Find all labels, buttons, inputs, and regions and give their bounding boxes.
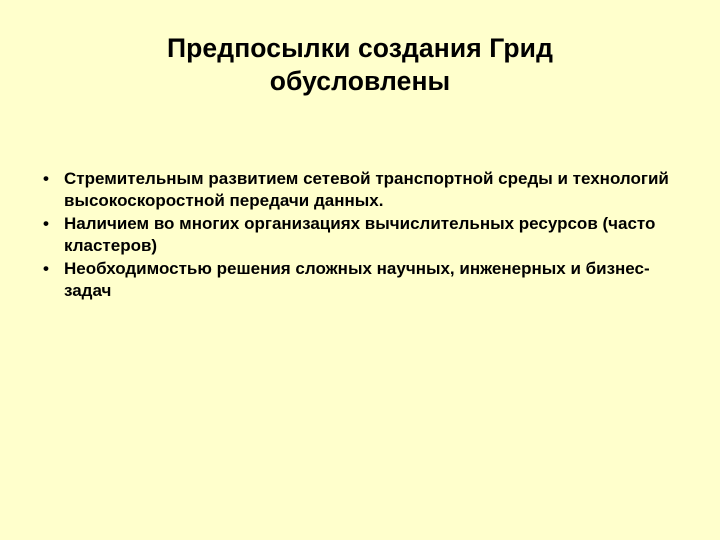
list-item-text: Стремительным развитием сетевой транспор… (64, 168, 688, 213)
bullet-point-icon: • (43, 213, 57, 235)
list-item: • Наличием во многих организациях вычисл… (40, 213, 688, 258)
presentation-slide: Предпосылки создания Грид обусловлены • … (0, 0, 720, 540)
slide-bullet-list: • Стремительным развитием сетевой трансп… (40, 168, 688, 302)
bullet-point-icon: • (43, 168, 57, 190)
list-item: • Стремительным развитием сетевой трансп… (40, 168, 688, 213)
list-item: • Необходимостью решения сложных научных… (40, 258, 688, 303)
slide-title-line-1: Предпосылки создания Грид (56, 32, 664, 65)
list-item-text: Наличием во многих организациях вычислит… (64, 213, 688, 258)
slide-title: Предпосылки создания Грид обусловлены (56, 32, 664, 98)
bullet-point-icon: • (43, 258, 57, 280)
slide-title-line-2: обусловлены (56, 65, 664, 98)
list-item-text: Необходимостью решения сложных научных, … (64, 258, 688, 303)
